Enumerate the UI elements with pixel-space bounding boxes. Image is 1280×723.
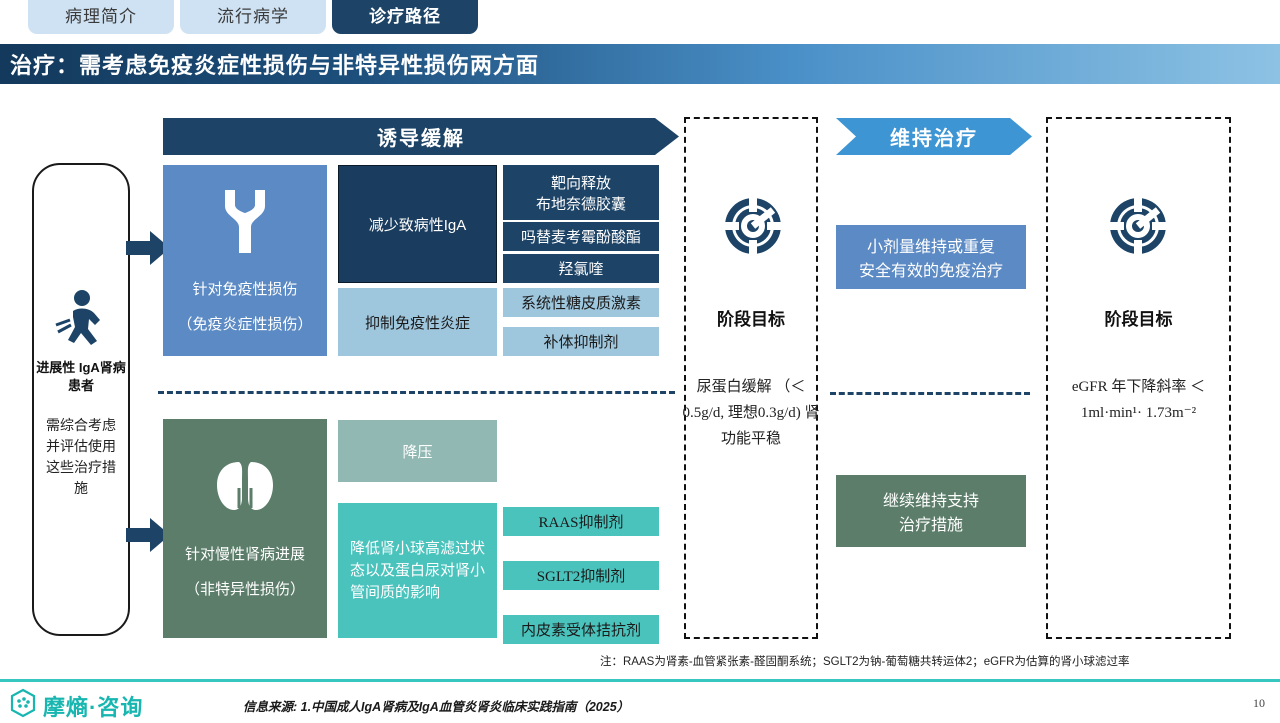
mechanism-suppress-immune-inflammation[interactable]: 抑制免疫性炎症 xyxy=(338,288,497,356)
page-number: 10 xyxy=(1253,696,1265,711)
drug-label: RAAS抑制剂 xyxy=(538,511,623,532)
drug-sglt2-inhibitor[interactable]: SGLT2抑制剂 xyxy=(503,561,659,590)
drug-endothelin-receptor-antagonist[interactable]: 内皮素受体拮抗剂 xyxy=(503,615,659,644)
slide-title-banner: 治疗：需考虑免疫炎症性损伤与非特异性损伤两方面 xyxy=(0,44,1280,84)
drug-mycophenolate-mofetil[interactable]: 吗替麦考霉酚酸酯 xyxy=(503,222,659,251)
tab-bar: 病理简介 流行病学 诊疗路径 xyxy=(0,0,1280,40)
category-immune-line2: （免疫炎症性损伤） xyxy=(177,313,312,334)
maintenance-immune-line2: 安全有效的免疫治疗 xyxy=(859,257,1003,281)
walking-patient-icon xyxy=(53,289,109,354)
tab-label: 病理简介 xyxy=(65,2,137,27)
drug-label: 系统性糖皮质激素 xyxy=(521,292,641,313)
goal-line: 年下降斜率 xyxy=(1111,379,1186,395)
mechanism-label: 抑制免疫性炎症 xyxy=(365,312,470,333)
slide-canvas: 病理简介 流行病学 诊疗路径 治疗：需考虑免疫炎症性损伤与非特异性损伤两方面 进… xyxy=(0,0,1280,720)
drug-label-line2: 布地奈德胶囊 xyxy=(536,193,626,214)
patient-panel: 进展性 IgA肾病 患者 需综合考虑并评估使用这些治疗措施 xyxy=(32,163,130,636)
phase-banner-induction: 诱导缓解 xyxy=(163,118,679,155)
patient-name-line2: IgA肾病 xyxy=(79,360,126,375)
patient-description: 需综合考虑并评估使用这些治疗措施 xyxy=(44,415,118,499)
drug-raas-inhibitor[interactable]: RAAS抑制剂 xyxy=(503,507,659,536)
track-divider xyxy=(158,391,675,394)
goal-line: eGFR xyxy=(1072,379,1108,395)
mechanism-label: 减少致病性IgA xyxy=(369,214,467,235)
tab-label: 诊疗路径 xyxy=(369,2,441,27)
stage-goal-body-induction: 尿蛋白缓解 （＜0.5g/d, 理想0.3g/d) 肾功能平稳 xyxy=(678,374,824,452)
stage-goal-title-maintenance: 阶段目标 xyxy=(1046,305,1231,330)
target-icon xyxy=(723,196,783,261)
drug-systemic-corticosteroids[interactable]: 系统性糖皮质激素 xyxy=(503,288,659,317)
phase-banner-induction-label: 诱导缓解 xyxy=(377,122,465,151)
mechanism-reduce-pathogenic-iga[interactable]: 减少致病性IgA xyxy=(338,165,497,283)
category-ckd-line1: 针对慢性肾病进展 xyxy=(185,543,305,564)
tab-epidemiology[interactable]: 流行病学 xyxy=(180,0,326,34)
drug-targeted-release-budesonide[interactable]: 靶向释放 布地奈德胶囊 xyxy=(503,165,659,220)
drug-label: 羟氯喹 xyxy=(558,258,603,279)
drug-label: 吗替麦考霉酚酸酯 xyxy=(521,226,641,247)
phase-banner-maintenance: 维持治疗 xyxy=(836,118,1032,155)
patient-name: 进展性 IgA肾病 患者 xyxy=(34,359,128,395)
hexagon-logo-icon xyxy=(8,688,38,723)
stage-goal-body-maintenance: eGFR 年下降斜率 ＜1ml·min¹· 1.73m⁻² xyxy=(1046,374,1231,426)
stage-goal-title-induction: 阶段目标 xyxy=(684,305,818,330)
patient-name-line3: 患者 xyxy=(68,378,94,393)
tab-diagnosis-treatment-pathway[interactable]: 诊疗路径 xyxy=(332,0,478,34)
brand-logo: 摩熵·咨询 xyxy=(8,688,143,723)
category-immune-injury[interactable]: 针对免疫性损伤 （免疫炎症性损伤） xyxy=(163,165,327,356)
tab-pathology-intro[interactable]: 病理简介 xyxy=(28,0,174,34)
mechanism-reduce-hyperfiltration[interactable]: 降低肾小球高滤过状态以及蛋白尿对肾小管间质的影响 xyxy=(338,503,497,638)
drug-label: 内皮素受体拮抗剂 xyxy=(521,619,641,640)
mechanism-label: 降压 xyxy=(402,441,432,462)
drug-label-line1: 靶向释放 xyxy=(551,172,611,193)
phase-banner-maintenance-label: 维持治疗 xyxy=(890,122,978,151)
brand-name: 摩熵·咨询 xyxy=(43,690,143,722)
source-citation: 信息来源: 1.中国成人IgA肾病及IgA血管炎肾炎临床实践指南（2025） xyxy=(243,696,629,715)
maintenance-support-line1: 继续维持支持 xyxy=(883,487,979,511)
mechanism-label: 降低肾小球高滤过状态以及蛋白尿对肾小管间质的影响 xyxy=(350,538,485,604)
patient-name-line1: 进展性 xyxy=(36,360,75,375)
maintenance-immune-therapy-box[interactable]: 小剂量维持或重复 安全有效的免疫治疗 xyxy=(836,225,1026,289)
mechanism-blood-pressure-control[interactable]: 降压 xyxy=(338,420,497,482)
maintenance-supportive-care-box[interactable]: 继续维持支持 治疗措施 xyxy=(836,475,1026,547)
goal-line: 理想0.3g/d) xyxy=(728,405,801,421)
maintenance-immune-line1: 小剂量维持或重复 xyxy=(867,233,995,257)
drug-hydroxychloroquine[interactable]: 羟氯喹 xyxy=(503,254,659,283)
goal-line: 尿蛋白缓解 xyxy=(697,379,772,395)
maintenance-support-line2: 治疗措施 xyxy=(899,511,963,535)
tab-label: 流行病学 xyxy=(217,2,289,27)
drug-complement-inhibitor[interactable]: 补体抑制剂 xyxy=(503,327,659,356)
footnote: 注：RAAS为肾素-血管紧张素-醛固酮系统；SGLT2为钠-葡萄糖共转运体2；e… xyxy=(600,653,1272,669)
footer-bar: 摩熵·咨询 信息来源: 1.中国成人IgA肾病及IgA血管炎肾炎临床实践指南（2… xyxy=(0,679,1280,723)
category-ckd-progression[interactable]: 针对慢性肾病进展 （非特异性损伤） xyxy=(163,419,327,638)
page-title: 治疗：需考虑免疫炎症性损伤与非特异性损伤两方面 xyxy=(10,48,539,80)
drug-label: 补体抑制剂 xyxy=(543,331,618,352)
kidneys-icon xyxy=(213,458,277,519)
antibody-icon xyxy=(219,187,271,262)
target-icon xyxy=(1108,196,1168,261)
category-immune-line1: 针对免疫性损伤 xyxy=(192,278,297,299)
category-ckd-line2: （非特异性损伤） xyxy=(185,578,305,599)
maintenance-divider xyxy=(830,392,1030,395)
drug-label: SGLT2抑制剂 xyxy=(537,565,626,586)
